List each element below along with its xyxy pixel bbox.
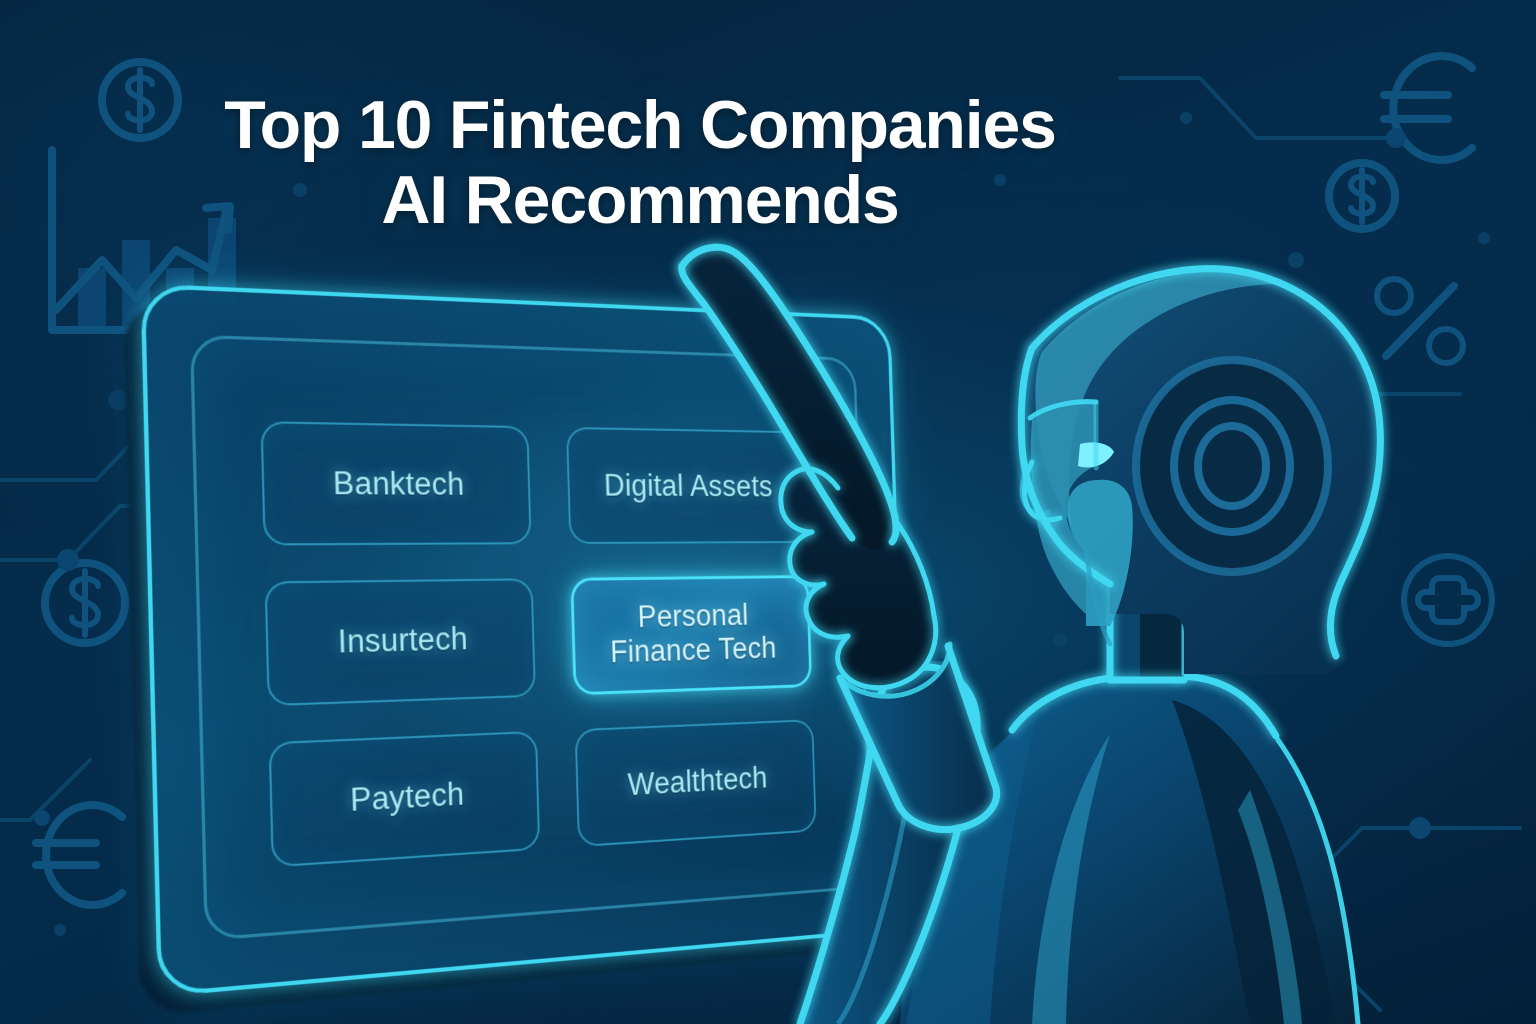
ai-robot-figure: .out{ fill:none; stroke:#3fd8f0; stroke-… — [780, 230, 1536, 1024]
tile-label: Personal Finance Tech — [587, 598, 797, 670]
dollar-coin-icon — [1329, 163, 1395, 229]
category-tile-grid: Banktech Digital Assets Insurtech Person… — [260, 421, 816, 867]
tile-digital-assets[interactable]: Digital Assets — [566, 427, 808, 544]
tile-label: Paytech — [350, 777, 465, 819]
title-line-1: Top 10 Fintech Companies — [0, 88, 1280, 163]
poster-canvas: .ln{ fill:none; stroke:#0c4a74; stroke-w… — [0, 0, 1536, 1024]
euro-symbol-icon — [36, 805, 122, 905]
tile-label: Digital Assets — [604, 469, 773, 504]
dollar-coin-icon — [45, 563, 125, 643]
tile-label: Wealthtech — [627, 761, 768, 802]
robot-ear-concentric-rings — [1136, 360, 1328, 572]
tile-paytech[interactable]: Paytech — [269, 731, 541, 868]
robot-head — [1021, 267, 1380, 674]
euro-symbol-icon — [1384, 56, 1472, 160]
tile-personal-finance-tech[interactable]: Personal Finance Tech — [570, 575, 812, 695]
page-title: Top 10 Fintech Companies AI Recommends — [0, 88, 1280, 238]
robot-svg: .out{ fill:none; stroke:#3fd8f0; stroke-… — [780, 230, 1536, 1024]
tile-insurtech[interactable]: Insurtech — [265, 578, 536, 706]
tile-banktech[interactable]: Banktech — [260, 421, 531, 545]
title-line-2: AI Recommends — [0, 163, 1280, 238]
